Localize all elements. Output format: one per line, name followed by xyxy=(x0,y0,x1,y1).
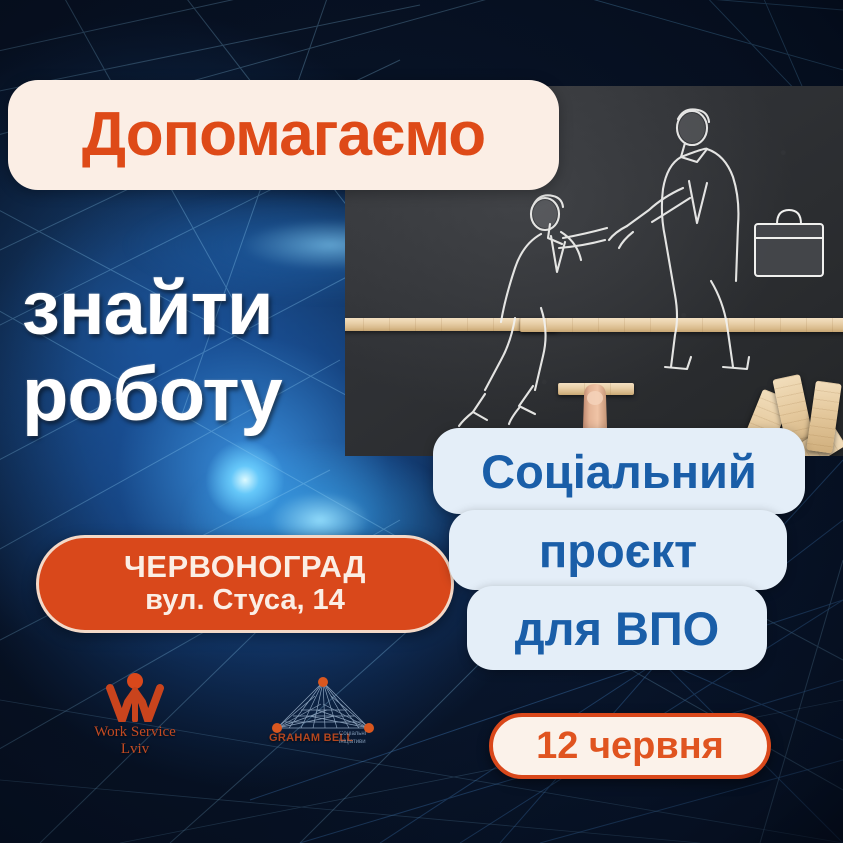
project-line-2: проєкт xyxy=(449,510,787,590)
address-city: ЧЕРВОНОГРАД xyxy=(124,551,366,584)
page-title: Допомагаємо xyxy=(82,104,485,166)
project-line-3: для ВПО xyxy=(467,586,767,670)
logo-work-service-text: Work Service Lviv xyxy=(94,724,176,758)
poster: Допомагаємо знайти роботу ЧЕРВОНОГРАД ву… xyxy=(0,0,843,843)
date-text: 12 червня xyxy=(536,725,724,768)
date-pill: 12 червня xyxy=(489,713,771,779)
title-pill: Допомагаємо xyxy=(8,80,559,190)
logo-work-service-lviv: Work Service Lviv xyxy=(75,672,195,764)
project-line-1: Соціальний xyxy=(433,428,805,514)
address-pill: ЧЕРВОНОГРАД вул. Стуса, 14 xyxy=(36,535,454,633)
headline-line-2: роботу xyxy=(22,358,352,432)
logo-ws-line-2: Lviv xyxy=(94,741,176,758)
work-service-w-icon xyxy=(98,672,172,722)
logo-graham-bell: GRAHAM BELL Соціальні ініціативи xyxy=(265,676,390,756)
project-block: Соціальний проєкт для ВПО xyxy=(433,428,805,670)
headline-line-1: знайти xyxy=(22,272,352,346)
graham-bell-triangle-icon xyxy=(265,676,390,738)
address-street: вул. Стуса, 14 xyxy=(145,584,345,616)
logo-ws-line-1: Work Service xyxy=(94,724,176,741)
headline: знайти роботу xyxy=(22,272,352,433)
logo-graham-bell-subtitle: Соціальні ініціативи xyxy=(339,731,391,746)
